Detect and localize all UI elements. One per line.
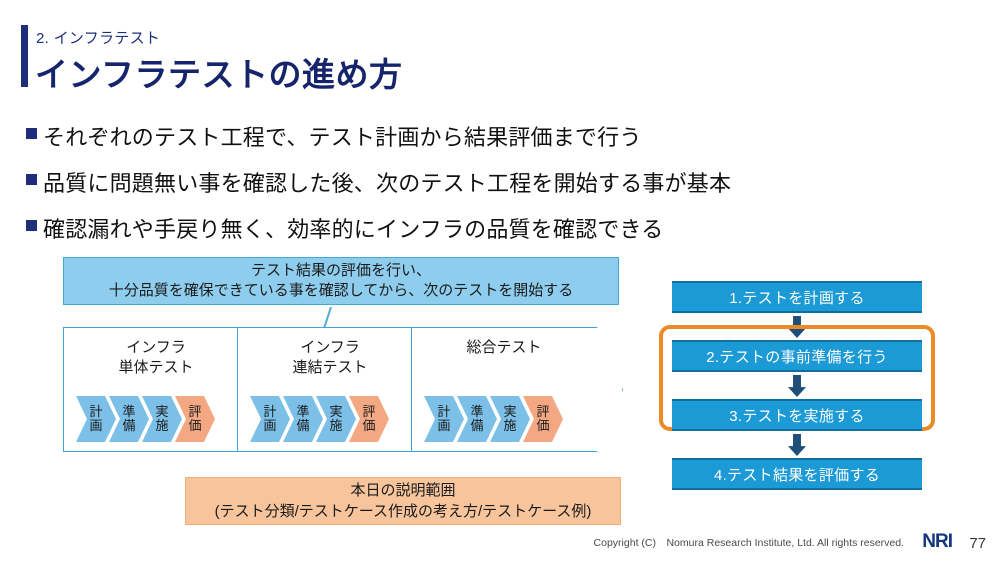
flow-step-2: 2.テストの事前準備を行う [672, 340, 922, 372]
section-kicker: 2. インフラテスト [36, 27, 160, 48]
step-chevron: 計画 [424, 396, 464, 442]
nri-logo: NRI [922, 531, 952, 553]
step-chevron: 計画 [250, 396, 290, 442]
phase-title-line1: インフラ [238, 338, 422, 358]
square-bullet-icon [26, 220, 37, 231]
step-char-bottom: 価 [536, 418, 549, 433]
list-item: 確認漏れや手戻り無く、効率的にインフラの品質を確認できる [26, 212, 926, 244]
footer: Copyright (C) Nomura Research Institute,… [0, 531, 1000, 555]
callout-blue-line2: 十分品質を確保できている事を確認してから、次のテストを開始する [109, 281, 574, 301]
bullet-text: 品質に問題無い事を確認した後、次のテスト工程を開始する事が基本 [43, 166, 731, 198]
phase-steps-1: 計画 準備 実施 評価 [76, 396, 208, 442]
phase-title-2: インフラ 連結テスト [238, 338, 422, 379]
step-char-bottom: 施 [503, 418, 516, 433]
page-title: インフラテストの進め方 [35, 48, 403, 96]
step-char-bottom: 画 [263, 418, 276, 433]
title-accent-bar [21, 25, 28, 87]
phase-title-line2: 単体テスト [64, 358, 248, 378]
phase-title-1: インフラ 単体テスト [64, 338, 248, 379]
step-char-bottom: 備 [296, 418, 309, 433]
flow-step-1: 1.テストを計画する [672, 281, 922, 313]
callout-orange: 本日の説明範囲 (テスト分類/テストケース作成の考え方/テストケース例) [185, 477, 621, 525]
down-arrow-icon [788, 434, 806, 456]
phase-box-3: 総合テスト 計画 準備 実施 評価 [411, 327, 623, 452]
flow-step-4: 4.テスト結果を評価する [672, 458, 922, 490]
list-item: それぞれのテスト工程で、テスト計画から結果評価まで行う [26, 120, 926, 152]
phase-title-line1: インフラ [64, 338, 248, 358]
step-char-bottom: 価 [188, 418, 201, 433]
callout-blue-line1: テスト結果の評価を行い、 [251, 261, 431, 281]
step-char-bottom: 備 [470, 418, 483, 433]
step-chevron: 計画 [76, 396, 116, 442]
bullet-text: それぞれのテスト工程で、テスト計画から結果評価まで行う [43, 120, 642, 152]
bullet-text: 確認漏れや手戻り無く、効率的にインフラの品質を確認できる [43, 212, 664, 244]
copyright-text: Copyright (C) Nomura Research Institute,… [594, 535, 904, 550]
phase-title-line1: 総合テスト [412, 338, 596, 358]
callout-orange-line1: 本日の説明範囲 [350, 480, 455, 501]
callout-orange-line2: (テスト分類/テストケース作成の考え方/テストケース例) [215, 501, 592, 522]
phase-steps-3: 計画 準備 実施 評価 [424, 396, 556, 442]
callout-blue: テスト結果の評価を行い、 十分品質を確保できている事を確認してから、次のテストを… [63, 257, 619, 305]
step-char-bottom: 価 [362, 418, 375, 433]
phase-title-line2: 連結テスト [238, 358, 422, 378]
phase-title-3: 総合テスト [412, 338, 596, 358]
step-char-bottom: 備 [122, 418, 135, 433]
square-bullet-icon [26, 128, 37, 139]
diagram: テスト結果の評価を行い、 十分品質を確保できている事を確認してから、次のテストを… [0, 245, 1000, 545]
phase-steps-2: 計画 準備 実施 評価 [250, 396, 382, 442]
step-char-bottom: 画 [89, 418, 102, 433]
square-bullet-icon [26, 174, 37, 185]
step-char-bottom: 施 [329, 418, 342, 433]
step-char-bottom: 画 [437, 418, 450, 433]
bullet-list: それぞれのテスト工程で、テスト計画から結果評価まで行う 品質に問題無い事を確認し… [26, 120, 926, 258]
slide: 2. インフラテスト インフラテストの進め方 それぞれのテスト工程で、テスト計画… [0, 0, 1000, 563]
list-item: 品質に問題無い事を確認した後、次のテスト工程を開始する事が基本 [26, 166, 926, 198]
page-number: 77 [969, 535, 986, 552]
step-char-bottom: 施 [155, 418, 168, 433]
flow-step-3: 3.テストを実施する [672, 399, 922, 431]
